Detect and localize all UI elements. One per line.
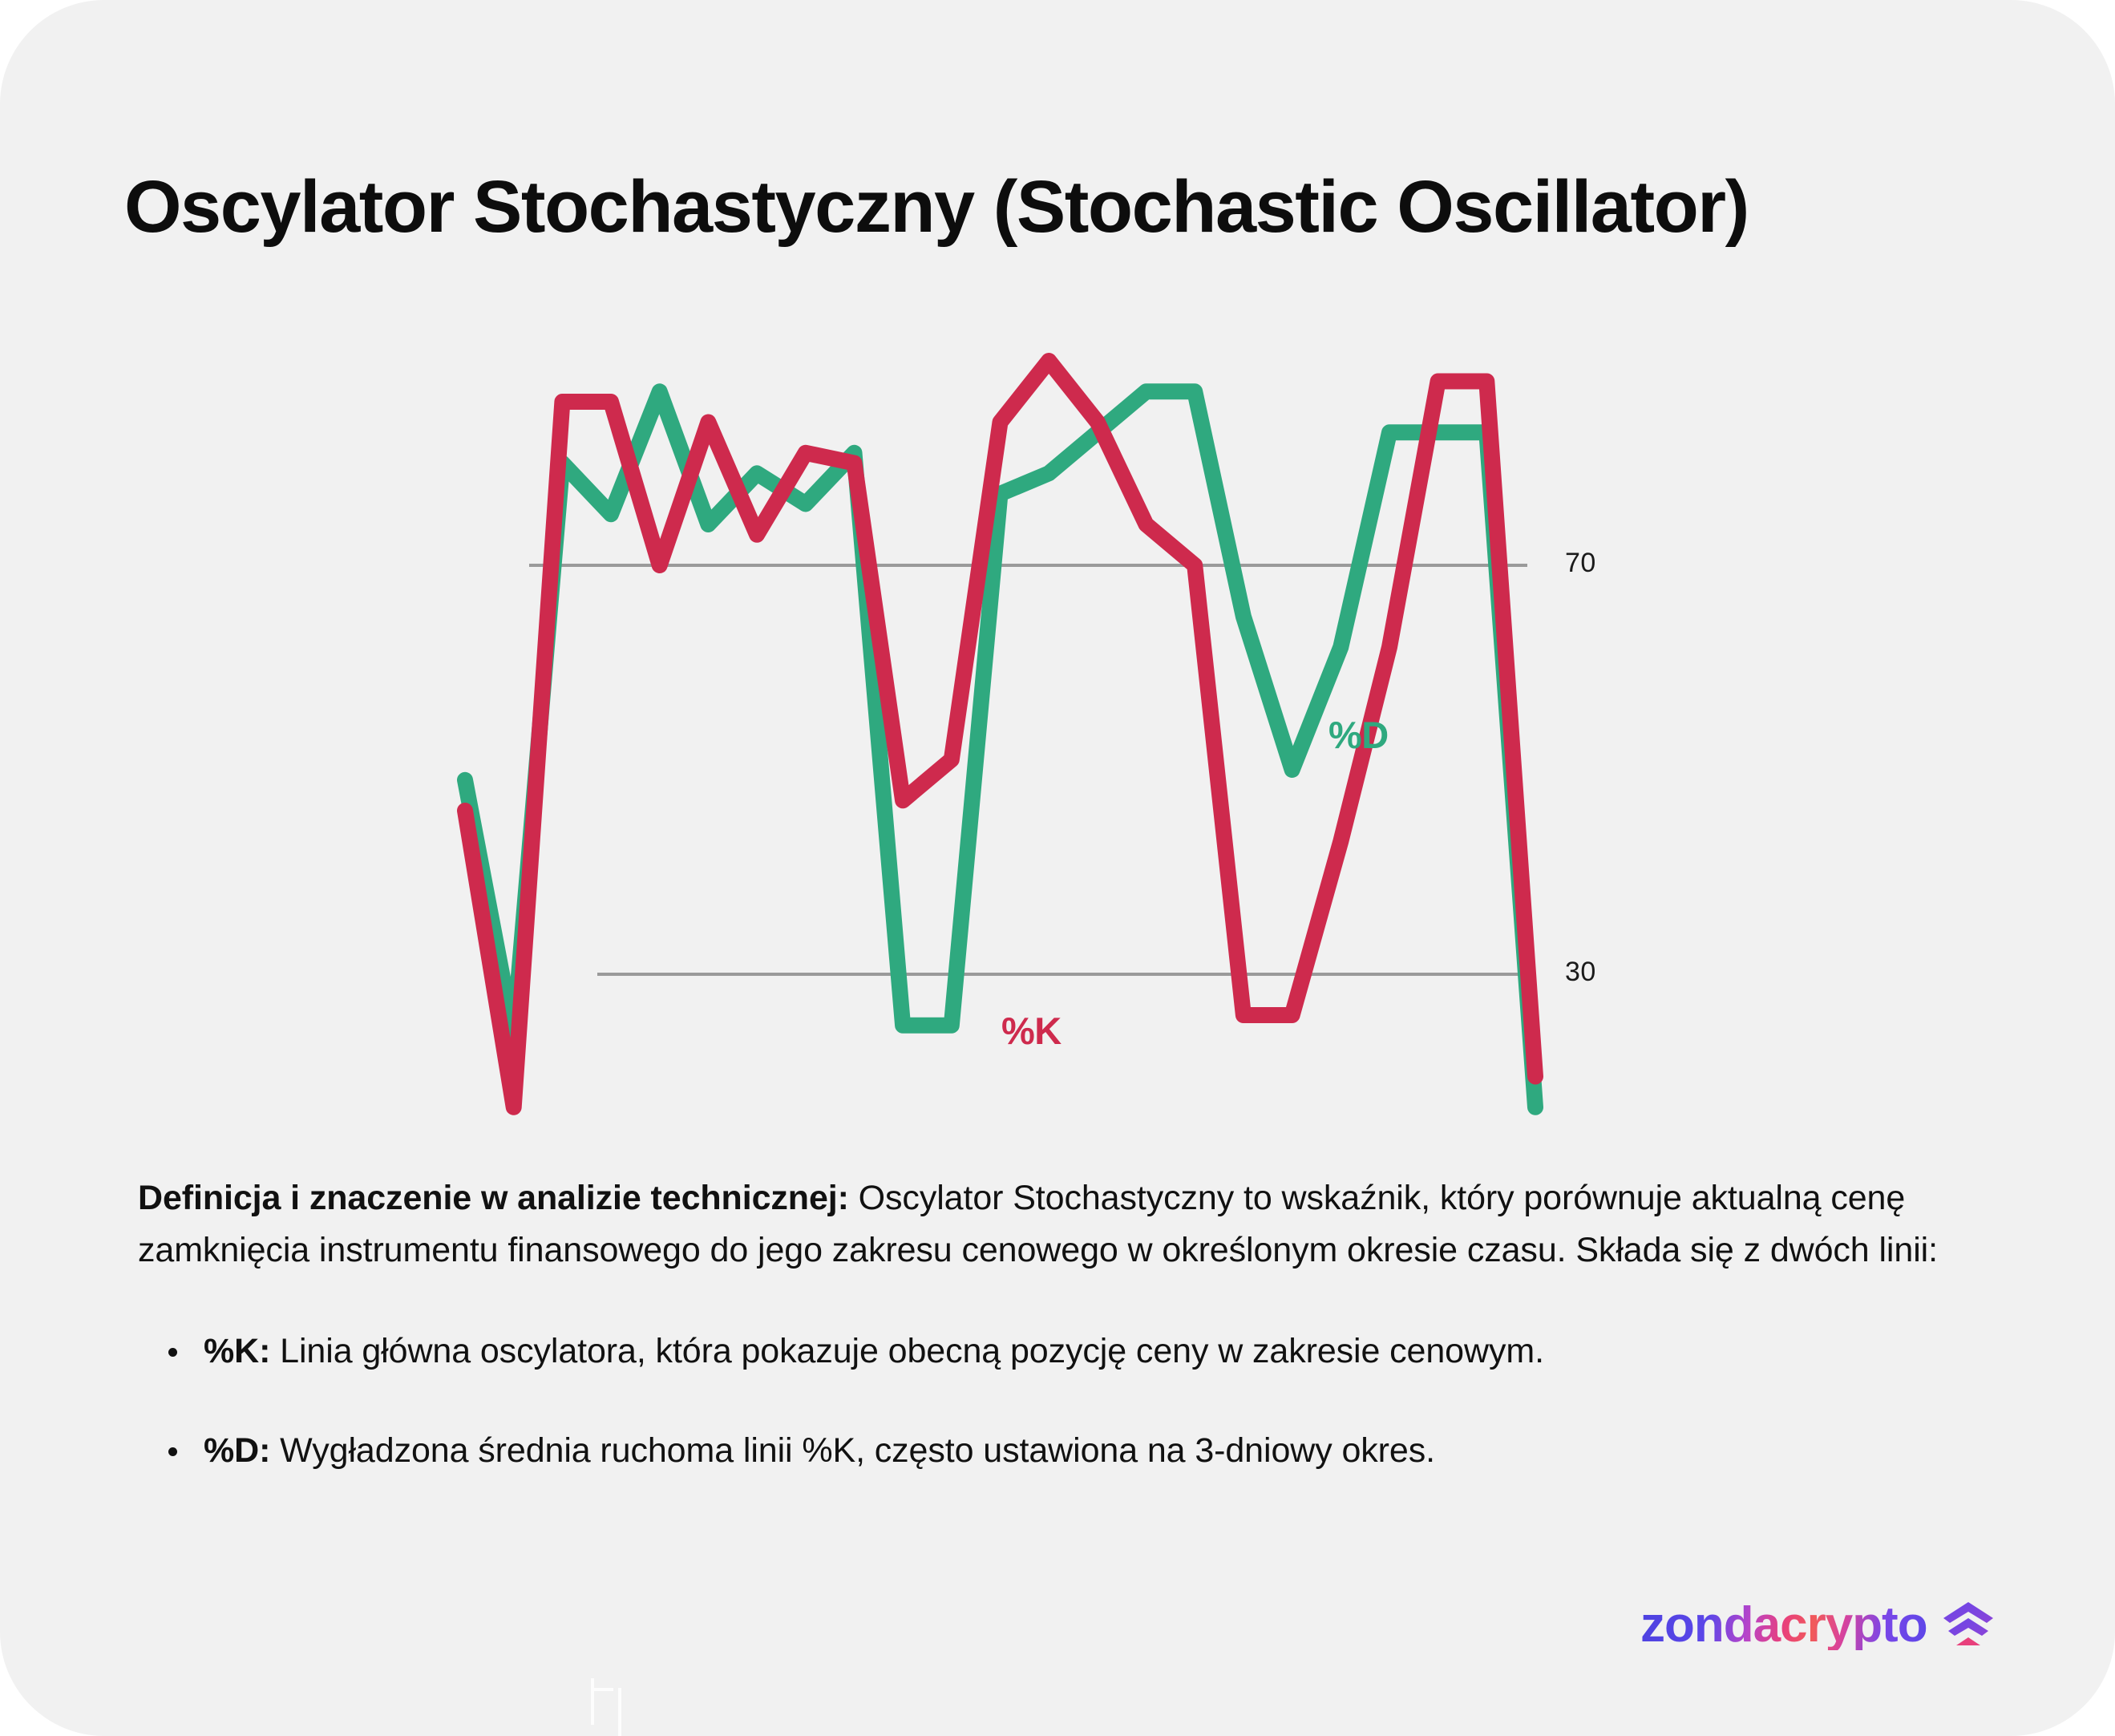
- render-artifact: [618, 1688, 621, 1736]
- list-item: %D: Wygładzona średnia ruchoma linii %K,…: [138, 1425, 1974, 1477]
- axis-tick-30: 30: [1565, 957, 1596, 988]
- content-card: Oscylator Stochastyczny (Stochastic Osci…: [0, 0, 2115, 1736]
- lines-bullet-list: %K: Linia główna oscylatora, która pokaz…: [138, 1325, 1974, 1477]
- series-label-d: %D: [1328, 713, 1389, 757]
- definition-lead: Definicja i znaczenie w analizie technic…: [138, 1179, 849, 1217]
- logo-wordmark: zondacrypto: [1640, 1600, 1927, 1650]
- render-artifact: [591, 1678, 594, 1725]
- list-item: %K: Linia główna oscylatora, która pokaz…: [138, 1325, 1974, 1378]
- zonda-chevron-icon: [1942, 1600, 1995, 1650]
- axis-tick-70: 70: [1565, 548, 1596, 579]
- zondacrypto-logo[interactable]: zondacrypto: [1640, 1597, 1995, 1653]
- stochastic-oscillator-chart: 70 30 %K %D: [0, 321, 2115, 1123]
- bullet-term-d: %D:: [204, 1431, 270, 1470]
- description-block: Definicja i znaczenie w analizie technic…: [138, 1172, 1974, 1525]
- bullet-text-d: Wygładzona średnia ruchoma linii %K, czę…: [270, 1431, 1435, 1470]
- render-artifact: [594, 1688, 613, 1691]
- bullet-text-k: Linia główna oscylatora, która pokazuje …: [270, 1332, 1544, 1370]
- definition-paragraph: Definicja i znaczenie w analizie technic…: [138, 1172, 1974, 1277]
- page-title: Oscylator Stochastyczny (Stochastic Osci…: [124, 160, 1848, 255]
- chart-canvas: [0, 321, 2115, 1123]
- bullet-term-k: %K:: [204, 1332, 270, 1370]
- series-label-k: %K: [1001, 1009, 1062, 1053]
